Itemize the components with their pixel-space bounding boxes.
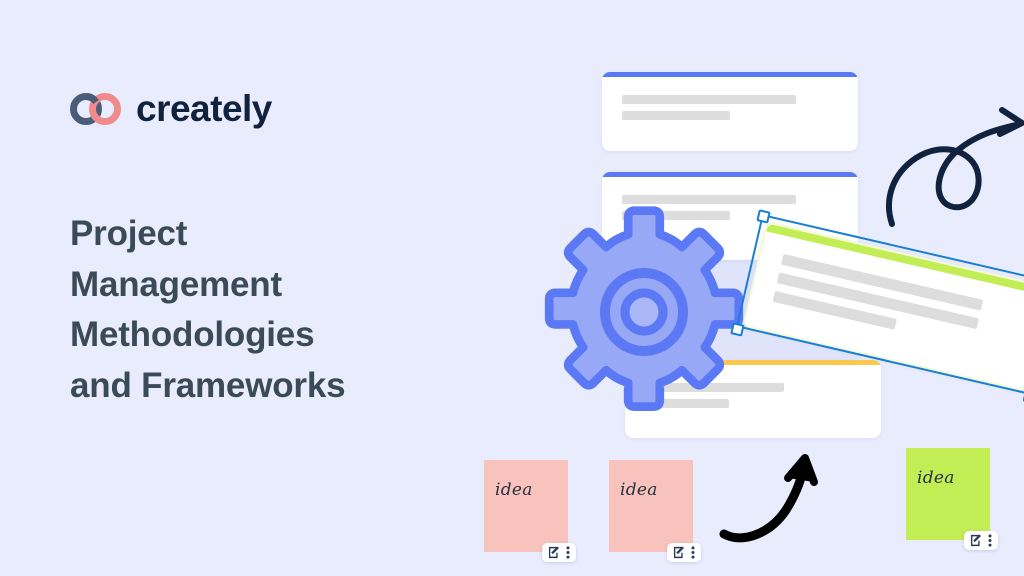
more-vertical-icon[interactable] — [691, 546, 695, 559]
sticky-note[interactable]: idea — [609, 460, 693, 552]
slide-canvas: creately Project Management Methodologie… — [0, 0, 1024, 576]
brand-logo[interactable]: creately — [70, 90, 272, 127]
card-accent-bar — [602, 72, 858, 77]
more-vertical-icon[interactable] — [566, 546, 570, 559]
edit-pencil-icon[interactable] — [548, 546, 561, 559]
headline-line-3: Methodologies — [70, 310, 460, 360]
two-interlocking-rings-icon — [70, 92, 122, 126]
resize-handle-top-left[interactable] — [756, 209, 770, 223]
sticky-note-text: idea — [495, 480, 533, 500]
headline-line-4: and Frameworks — [70, 361, 460, 411]
headline-line-2: Management — [70, 260, 460, 310]
edit-pencil-icon[interactable] — [673, 546, 686, 559]
sticky-note[interactable]: idea — [484, 460, 568, 552]
curved-up-arrow-icon — [718, 448, 832, 552]
headline-line-1: Project — [70, 209, 460, 259]
card-placeholder-line — [622, 95, 796, 104]
sticky-note-toolbar[interactable] — [542, 543, 576, 562]
page-title: Project Management Methodologies and Fra… — [70, 209, 460, 411]
more-vertical-icon[interactable] — [988, 534, 992, 547]
sticky-note-toolbar[interactable] — [964, 531, 998, 550]
sticky-note-toolbar[interactable] — [667, 543, 701, 562]
sticky-note-body — [906, 448, 990, 540]
gear-icon — [528, 196, 760, 428]
sticky-note-body — [484, 460, 568, 552]
sticky-note[interactable]: idea — [906, 448, 990, 540]
brand-name: creately — [136, 90, 272, 127]
curved-loop-arrow-icon — [878, 96, 1024, 232]
diagram-card-top[interactable] — [602, 72, 858, 151]
sticky-note-body — [609, 460, 693, 552]
sticky-note-text: idea — [620, 480, 658, 500]
sticky-note-text: idea — [917, 468, 955, 488]
card-placeholder-line — [622, 111, 730, 120]
edit-pencil-icon[interactable] — [970, 534, 983, 547]
card-accent-bar — [602, 172, 858, 177]
